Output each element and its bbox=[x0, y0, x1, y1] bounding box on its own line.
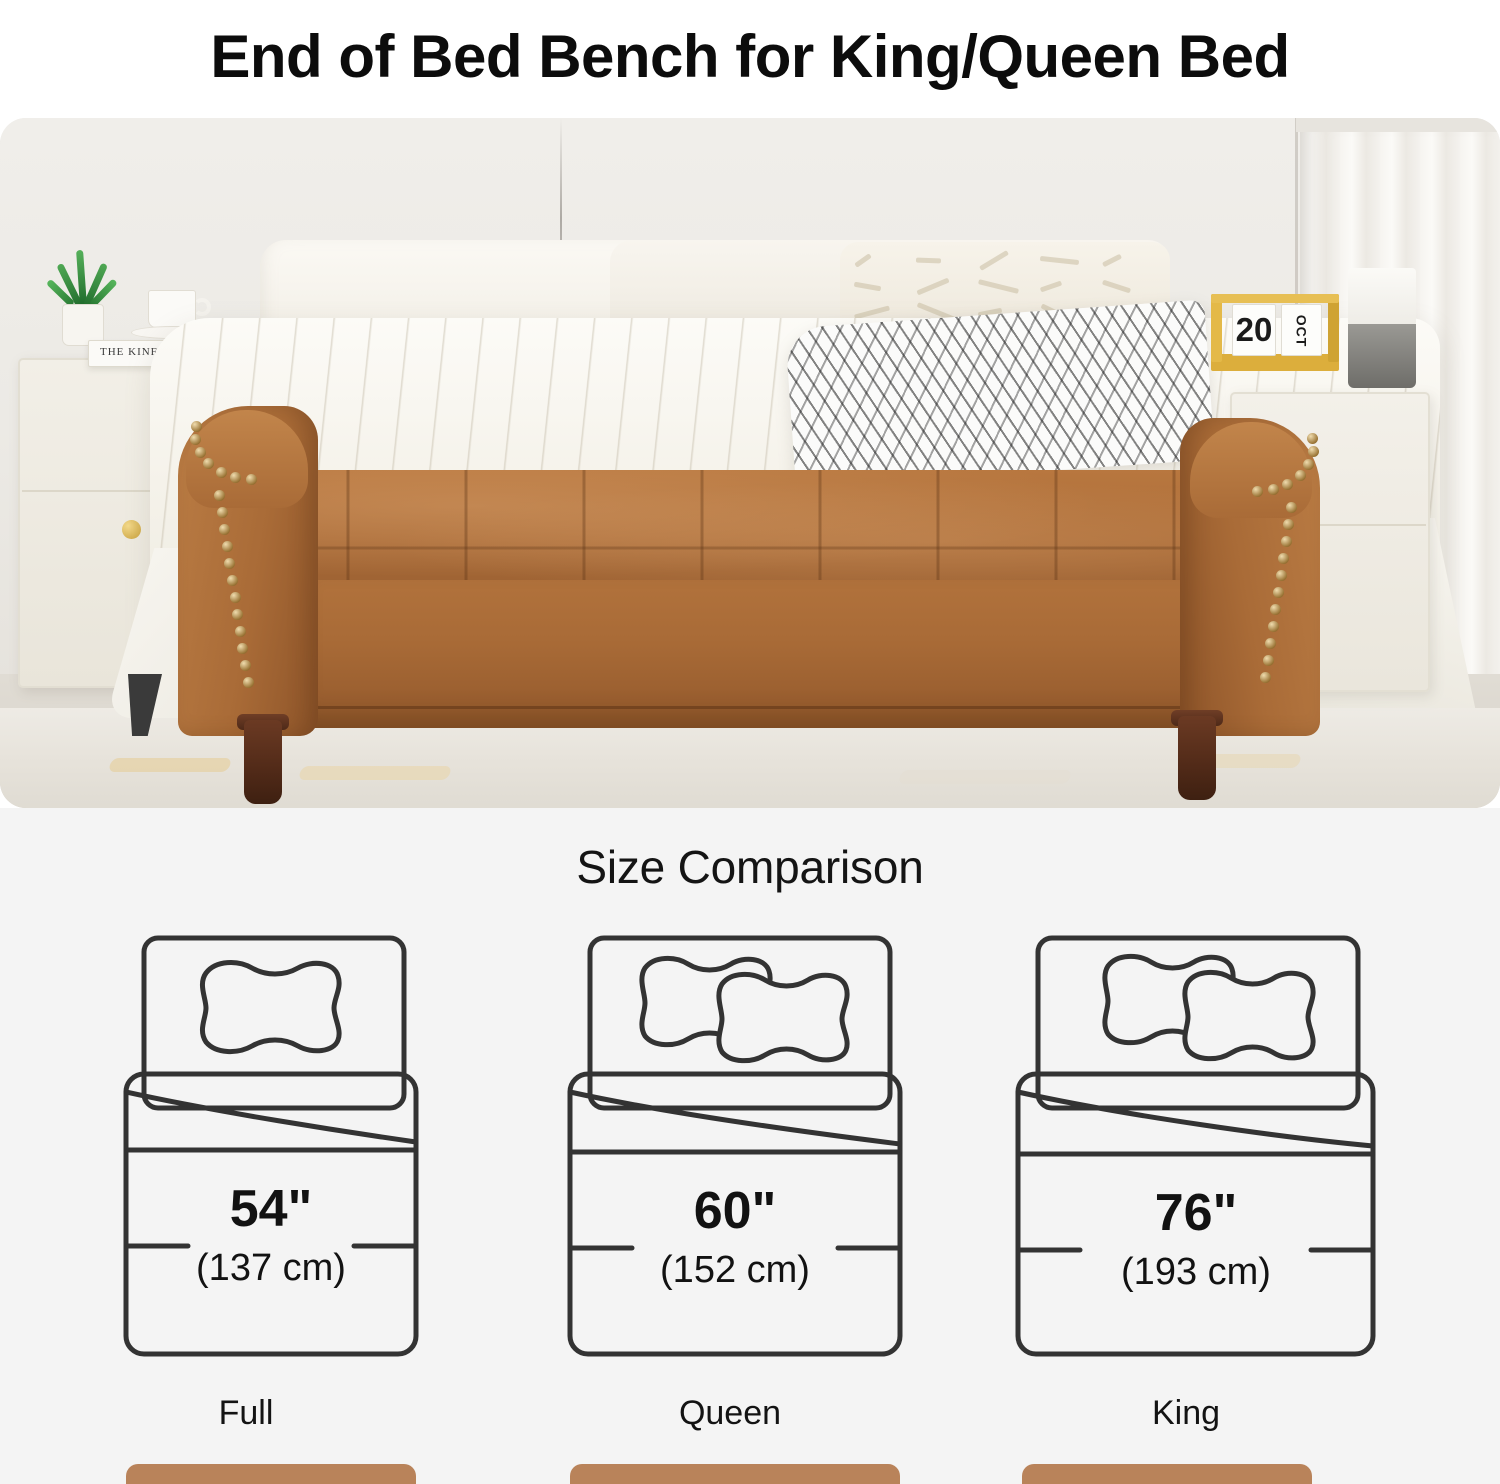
bench-length-bar-full bbox=[126, 1464, 416, 1484]
bench-tufting-pattern bbox=[290, 470, 1220, 590]
nailhead-stud bbox=[1281, 536, 1292, 547]
bench-tufted-seat bbox=[290, 470, 1220, 590]
nailhead-stud bbox=[1263, 655, 1274, 666]
nailhead-stud bbox=[1252, 486, 1263, 497]
nailhead-stud bbox=[246, 474, 257, 485]
throw-blanket bbox=[785, 300, 1215, 489]
bench-wooden-leg bbox=[244, 720, 282, 804]
bed-width-inches: 54" bbox=[230, 1180, 313, 1238]
size-comparison-panel: Size Comparison 54" (137 cm) Full bbox=[0, 808, 1500, 1484]
desk-calendar-post bbox=[1328, 294, 1339, 362]
bed-diagram-queen: 60" (152 cm) bbox=[500, 926, 960, 1366]
calendar-day-text: 20 bbox=[1232, 310, 1276, 350]
bed-width-cm: (152 cm) bbox=[660, 1249, 810, 1291]
pillow-outline bbox=[719, 974, 847, 1060]
nailhead-stud bbox=[243, 677, 254, 688]
pillow-outline bbox=[202, 963, 339, 1052]
bed-size-name-queen: Queen bbox=[500, 1394, 960, 1433]
desk-calendar-base bbox=[1211, 354, 1339, 371]
calendar-month-text: OCT bbox=[1281, 308, 1322, 354]
bed-width-cm: (193 cm) bbox=[1121, 1251, 1271, 1293]
pillow-embroidery-mark bbox=[854, 253, 872, 267]
duvet-fold-curve bbox=[1018, 1092, 1373, 1146]
bench-lid-seam bbox=[300, 706, 1210, 709]
nailhead-stud bbox=[1295, 470, 1306, 481]
product-lifestyle-photo: THE KINFOLK 20 OCT bbox=[0, 118, 1500, 808]
desk-calendar-post bbox=[1211, 294, 1222, 362]
nailhead-stud bbox=[1268, 484, 1279, 495]
nailhead-stud bbox=[1303, 459, 1314, 470]
rug-pattern-mark bbox=[898, 770, 1073, 784]
bench-length-bar-king bbox=[1022, 1464, 1312, 1484]
pillow-embroidery-mark bbox=[979, 250, 1009, 271]
headboard-outline bbox=[144, 938, 404, 1108]
nailhead-stud bbox=[1308, 446, 1319, 457]
duvet-fold-curve bbox=[570, 1092, 900, 1144]
rug-pattern-mark bbox=[108, 758, 233, 772]
nailhead-stud bbox=[1260, 672, 1271, 683]
bed-size-name-full: Full bbox=[16, 1394, 476, 1433]
curtain-rod bbox=[1296, 118, 1500, 132]
pillow-embroidery-mark bbox=[1102, 280, 1131, 294]
bench-wooden-leg bbox=[1178, 716, 1216, 800]
bed-width-cm: (137 cm) bbox=[196, 1247, 346, 1289]
rug-pattern-mark bbox=[298, 766, 453, 780]
nailhead-stud bbox=[235, 626, 246, 637]
pillow-embroidery-mark bbox=[916, 258, 941, 264]
nailhead-stud bbox=[240, 660, 251, 671]
nailhead-stud bbox=[195, 447, 206, 458]
nailhead-stud bbox=[227, 575, 238, 586]
nailhead-stud bbox=[1276, 570, 1287, 581]
drawer-knob bbox=[122, 520, 141, 539]
pillow-embroidery-mark bbox=[1040, 256, 1079, 265]
nailhead-stud bbox=[214, 490, 225, 501]
bed-width-inches: 76" bbox=[1155, 1184, 1238, 1242]
nailhead-stud bbox=[222, 541, 233, 552]
nailhead-stud bbox=[1286, 502, 1297, 513]
nailhead-stud bbox=[216, 467, 227, 478]
size-comparison-heading: Size Comparison bbox=[0, 840, 1500, 894]
nailhead-stud bbox=[1273, 587, 1284, 598]
bed-size-name-king: King bbox=[956, 1394, 1416, 1433]
nailhead-stud bbox=[230, 592, 241, 603]
bed-width-inches: 60" bbox=[694, 1182, 777, 1240]
bench-length-bar-queen bbox=[570, 1464, 900, 1484]
bed-diagram-full: 54" (137 cm) bbox=[16, 926, 476, 1366]
page-title: End of Bed Bench for King/Queen Bed bbox=[0, 0, 1500, 112]
lamp-base bbox=[1348, 324, 1416, 388]
lamp-shade bbox=[1348, 268, 1416, 326]
bed-size-card-king: 76" (193 cm) King 58.1" (148 cm) bbox=[956, 926, 1416, 1484]
pillow-outline bbox=[1185, 972, 1313, 1058]
pillow-embroidery-mark bbox=[978, 279, 1019, 294]
throw-blanket-pattern bbox=[785, 300, 1215, 489]
nailhead-stud bbox=[217, 507, 228, 518]
pillow-embroidery-mark bbox=[854, 282, 881, 292]
bed-size-card-queen: 60" (152 cm) Queen 58.1" (148 cm) bbox=[500, 926, 960, 1484]
nailhead-stud bbox=[191, 421, 202, 432]
pillow-embroidery-mark bbox=[916, 278, 949, 296]
desk-calendar-rail bbox=[1211, 294, 1339, 303]
pillow-embroidery-mark bbox=[1040, 281, 1062, 293]
infographic-page: End of Bed Bench for King/Queen Bed THE … bbox=[0, 0, 1500, 1484]
bed-diagram-king: 76" (193 cm) bbox=[956, 926, 1416, 1366]
nailhead-stud bbox=[1268, 621, 1279, 632]
bed-size-card-full: 54" (137 cm) Full 58.1" (148 cm) bbox=[16, 926, 476, 1484]
duvet-fold-curve bbox=[126, 1092, 416, 1142]
pillow-embroidery-mark bbox=[1102, 254, 1122, 268]
